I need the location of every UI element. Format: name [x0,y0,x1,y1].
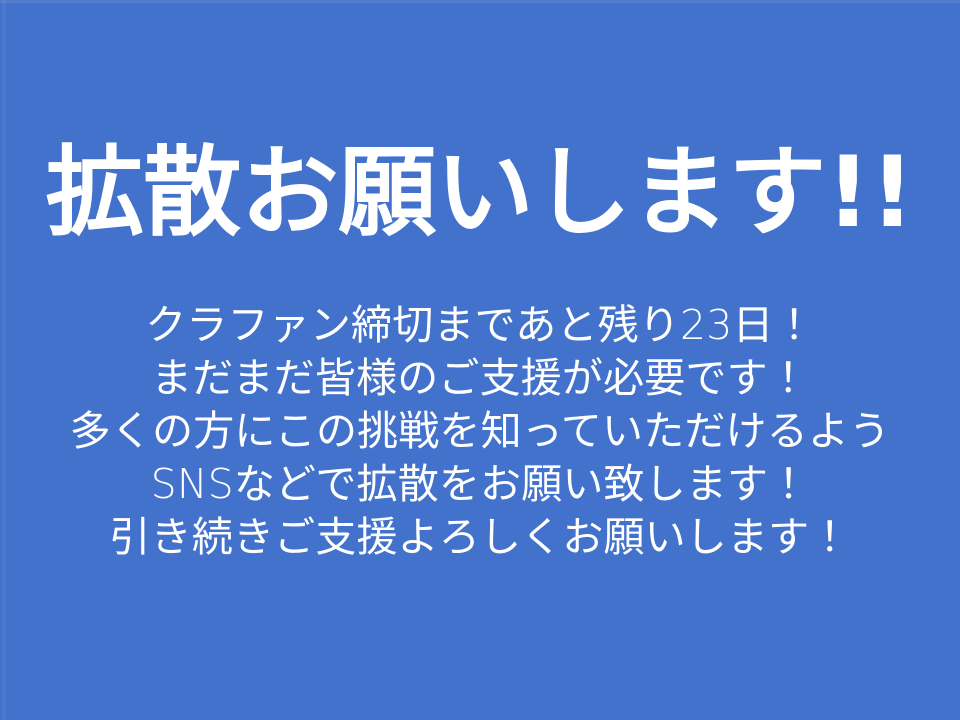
body-line-1: クラファン締切まであと残り23日！ [0,299,960,352]
body-line-5: 引き続きご支援よろしくお願いします！ [0,511,960,564]
body-line-2: まだまだ皆様のご支援が必要です！ [0,352,960,405]
body-line-3: 多くの方にこの挑戦を知っていただけるよう [0,405,960,458]
body-line-4: SNSなどで拡散をお願い致します！ [0,458,960,511]
body-text-block: クラファン締切まであと残り23日！ まだまだ皆様のご支援が必要です！ 多くの方に… [0,299,960,564]
headline: 拡散お願いします!! [0,141,960,247]
slide-content: 拡散お願いします!! クラファン締切まであと残り23日！ まだまだ皆様のご支援が… [0,0,960,720]
announcement-slide: 拡散お願いします!! クラファン締切まであと残り23日！ まだまだ皆様のご支援が… [0,0,960,720]
